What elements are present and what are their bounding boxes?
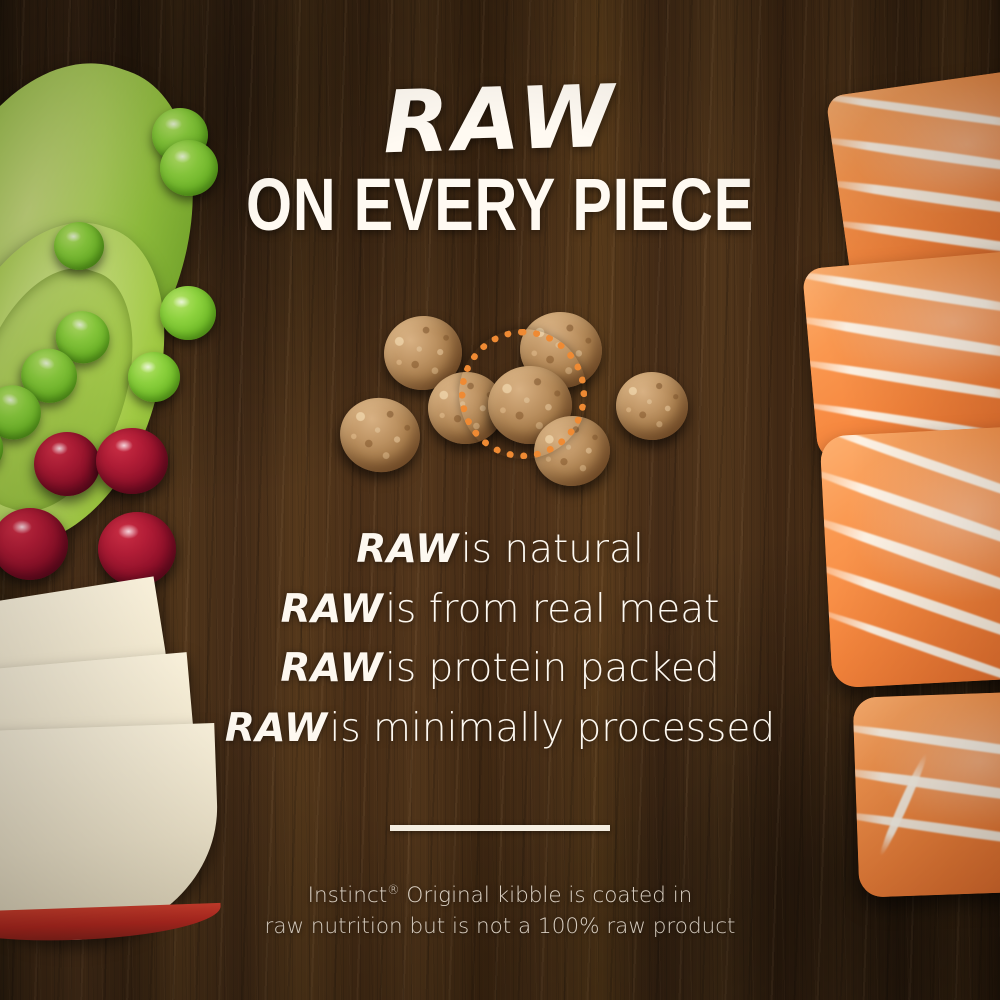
disclaimer-line-1: Instinct® Original kibble is coated in: [0, 880, 1000, 911]
claim-text: is minimally processed: [330, 706, 776, 751]
claim-keyword: RAW: [280, 646, 383, 691]
disclaimer-line-2: raw nutrition but is not a 100% raw prod…: [0, 911, 1000, 942]
divider-rule: [390, 825, 610, 831]
cranberry: [34, 432, 100, 496]
loose-pea: [160, 286, 216, 340]
claim-line: RAWis minimally processed: [0, 699, 1000, 759]
brand-name: Instinct: [308, 883, 387, 908]
loose-pea: [54, 222, 104, 270]
claim-line: RAWis protein packed: [0, 639, 1000, 699]
disclaimer-line-1-rest: Original kibble is coated in: [400, 883, 693, 908]
loose-pea: [160, 140, 218, 196]
dotted-highlight-circle: [459, 329, 587, 459]
claim-keyword: RAW: [281, 587, 384, 632]
claim-line: RAWis from real meat: [0, 580, 1000, 640]
claim-text: is natural: [461, 527, 644, 572]
claim-line: RAWis natural: [0, 520, 1000, 580]
product-hero-image: RAW ON EVERY PIECE RAWis natural RAWis f…: [0, 0, 1000, 1000]
claim-keyword: RAW: [225, 706, 328, 751]
claim-text: is protein packed: [385, 646, 720, 691]
cranberry: [96, 428, 168, 494]
disclaimer-block: Instinct® Original kibble is coated in r…: [0, 880, 1000, 942]
claim-keyword: RAW: [356, 527, 459, 572]
claims-list: RAWis natural RAWis from real meat RAWis…: [0, 520, 1000, 759]
registered-trademark-icon: ®: [387, 882, 399, 897]
claim-text: is from real meat: [385, 587, 719, 632]
loose-pea: [128, 352, 180, 402]
